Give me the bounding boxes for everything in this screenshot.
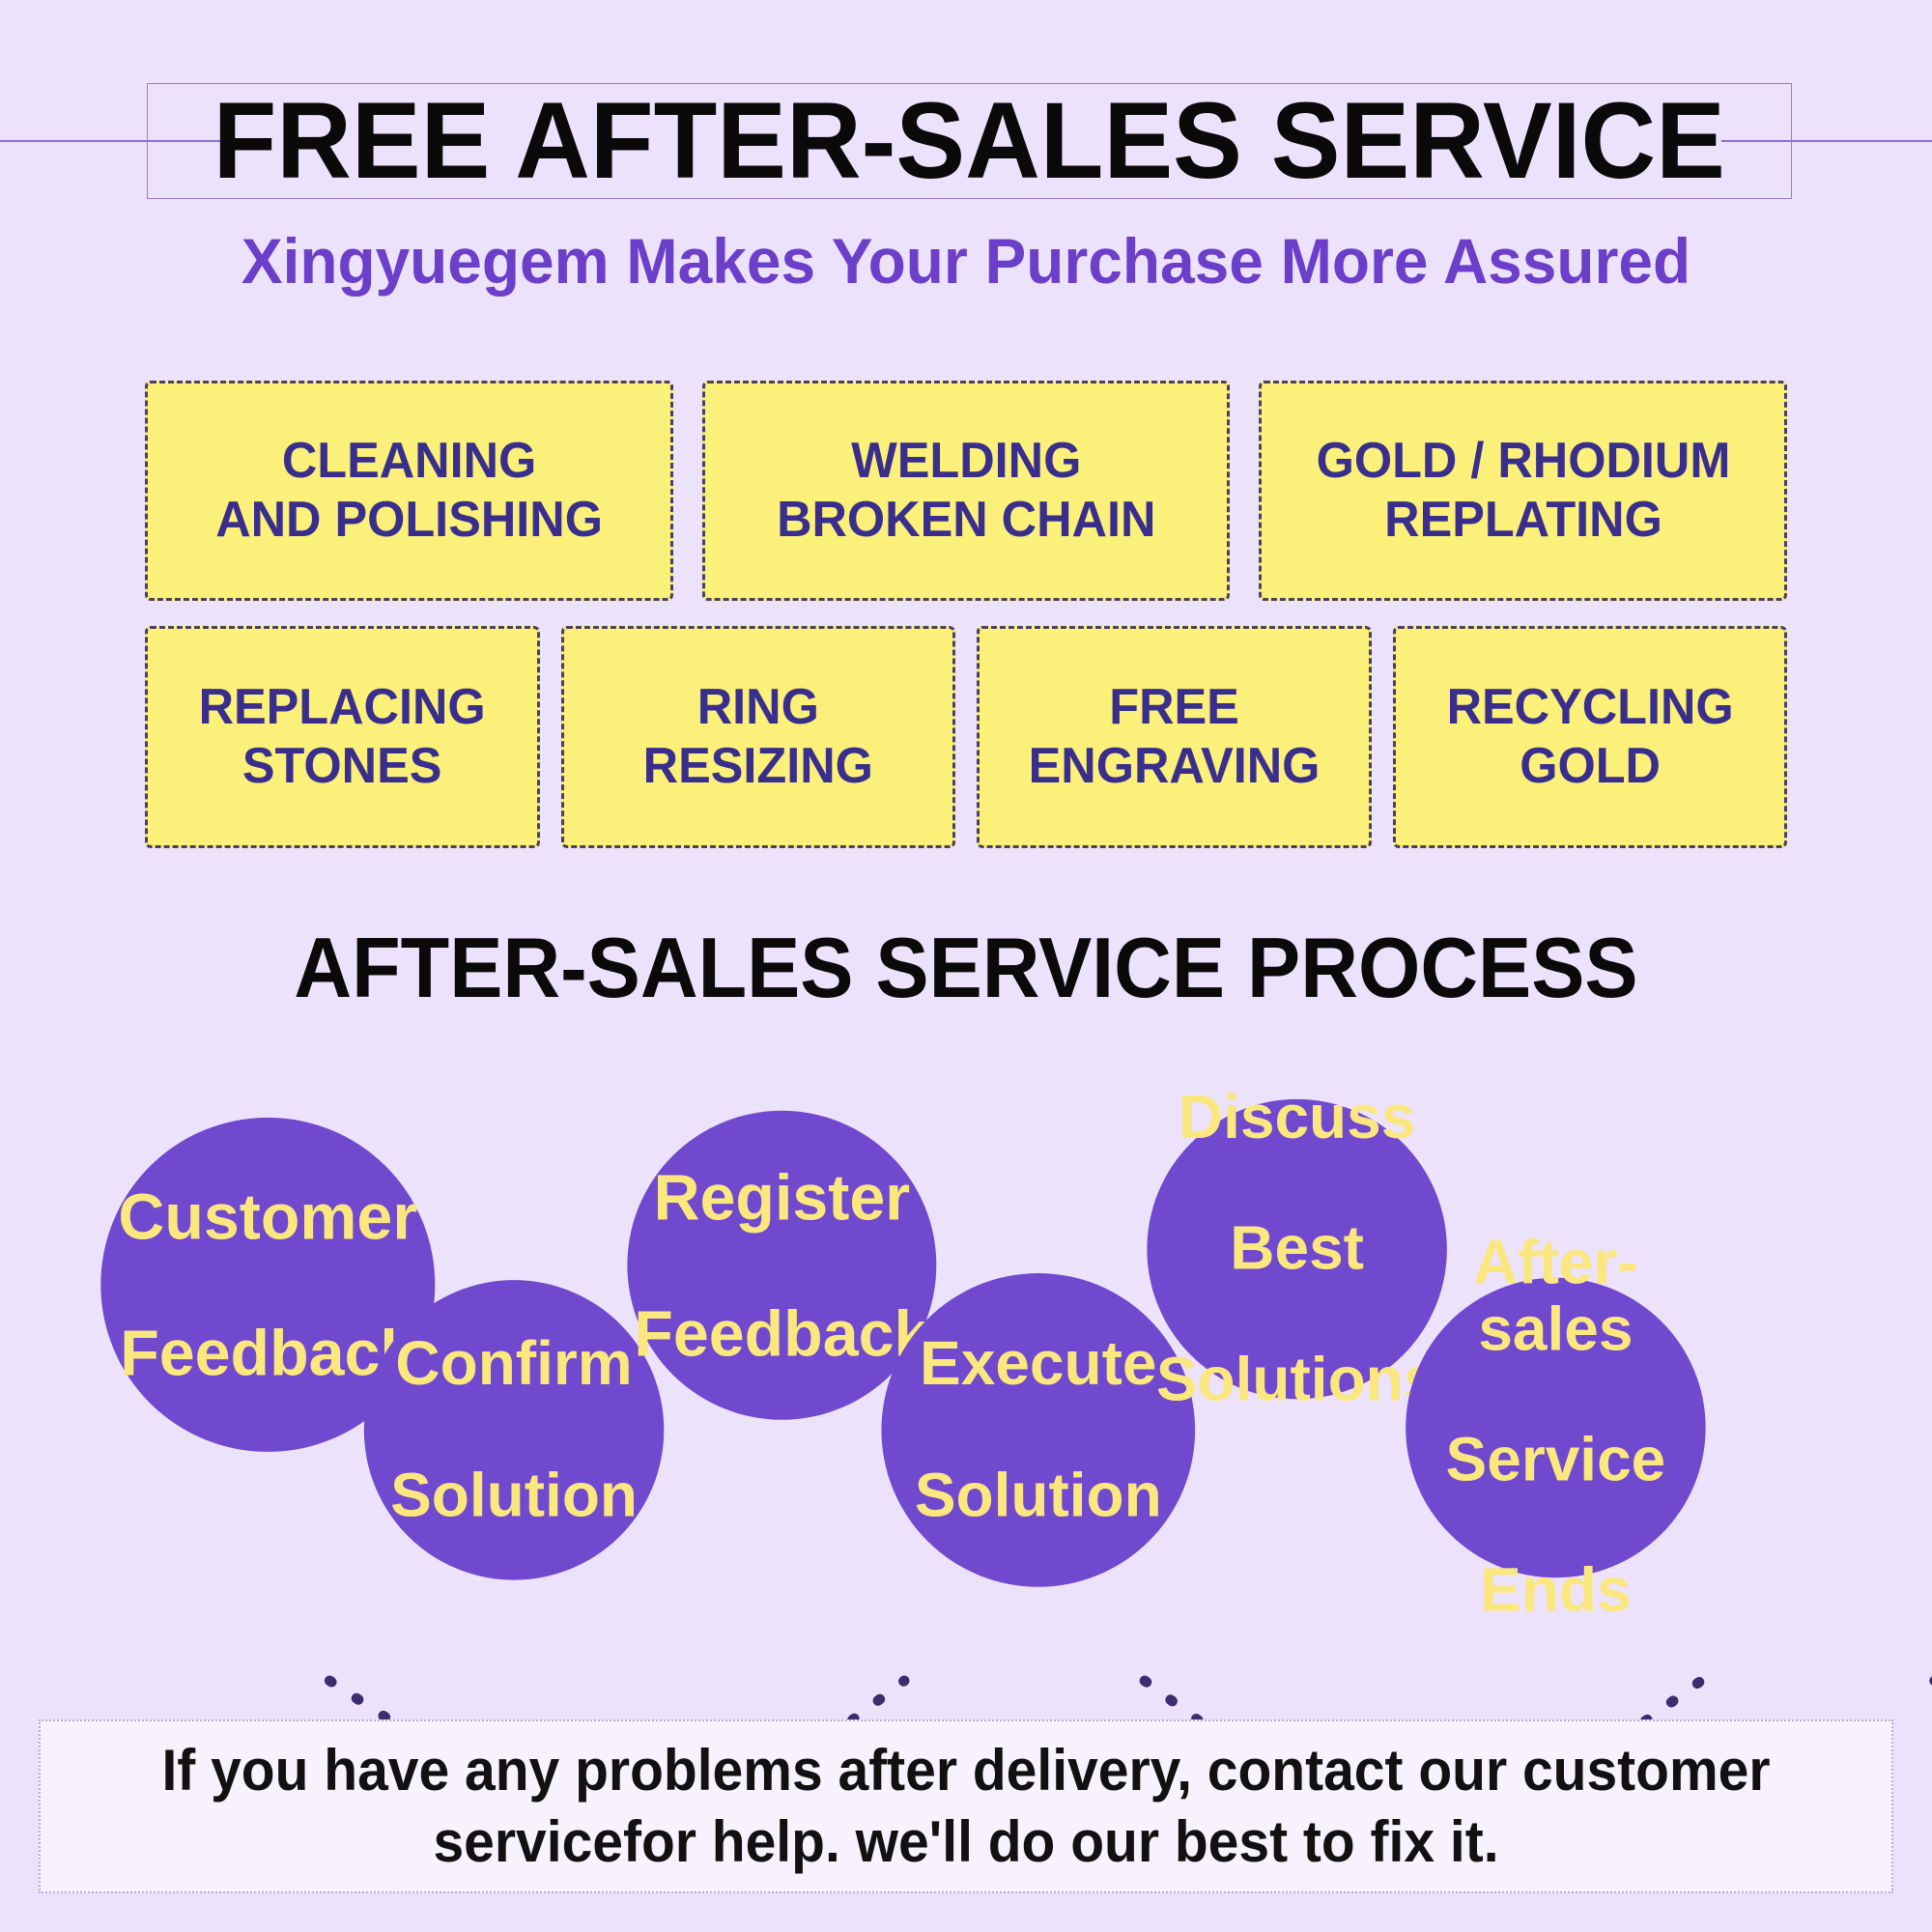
service-card-line2: GOLD bbox=[1446, 737, 1733, 796]
footer-note-text: If you have any problems after delivery,… bbox=[131, 1735, 1802, 1879]
service-card-line1: CLEANING bbox=[215, 432, 603, 491]
service-card-replacing-stones[interactable]: REPLACING STONES bbox=[145, 626, 540, 848]
process-step-line2: Feedback bbox=[627, 1299, 936, 1367]
process-step-discuss-best-solutions[interactable]: Discuss Best Solutions bbox=[1147, 1099, 1446, 1399]
process-step-line2: Solution bbox=[908, 1463, 1169, 1528]
service-card-cleaning[interactable]: CLEANING AND POLISHING bbox=[145, 381, 673, 601]
process-step-line1: Discuss bbox=[1150, 1086, 1445, 1151]
service-card-line2: BROKEN CHAIN bbox=[777, 491, 1155, 550]
service-card-ring-resizing[interactable]: RING RESIZING bbox=[561, 626, 956, 848]
service-card-line1: GOLD / RHODIUM bbox=[1316, 432, 1730, 491]
footer-line2: servicefor help. we'll do our best to fi… bbox=[131, 1806, 1802, 1878]
process-step-line3: Ends bbox=[1412, 1559, 1698, 1625]
service-card-free-engraving[interactable]: FREE ENGRAVING bbox=[977, 626, 1372, 848]
process-step-line1: After-sales bbox=[1412, 1232, 1698, 1363]
footer-line1: If you have any problems after delivery,… bbox=[131, 1735, 1802, 1806]
process-step-line1: Confirm bbox=[384, 1332, 644, 1398]
service-card-line1: RING bbox=[643, 678, 873, 737]
service-card-line2: ENGRAVING bbox=[1028, 737, 1320, 796]
service-card-line2: REPLATING bbox=[1316, 491, 1730, 550]
service-row-top: CLEANING AND POLISHING WELDING BROKEN CH… bbox=[145, 381, 1787, 601]
process-step-confirm-solution[interactable]: Confirm Solution bbox=[364, 1280, 664, 1579]
service-card-line1: WELDING bbox=[777, 432, 1155, 491]
process-step-register-feedback[interactable]: Register Feedback bbox=[627, 1111, 936, 1420]
process-step-line2: Service bbox=[1412, 1428, 1698, 1493]
title-frame: FREE AFTER-SALES SERVICE bbox=[147, 83, 1792, 199]
process-step-line3: Solutions bbox=[1150, 1348, 1445, 1413]
process-heading: AFTER-SALES SERVICE PROCESS bbox=[58, 925, 1874, 1010]
service-card-replating[interactable]: GOLD / RHODIUM REPLATING bbox=[1259, 381, 1787, 601]
service-card-line2: RESIZING bbox=[643, 737, 873, 796]
service-card-welding[interactable]: WELDING BROKEN CHAIN bbox=[702, 381, 1231, 601]
service-card-line1: RECYCLING bbox=[1446, 678, 1733, 737]
process-step-line1: Customer bbox=[111, 1182, 424, 1250]
process-step-line1: Execute bbox=[908, 1332, 1169, 1398]
process-flow: Customer Feedback Confirm Solution Regis… bbox=[0, 1063, 1932, 1818]
page-subtitle: Xingyuegem Makes Your Purchase More Assu… bbox=[29, 224, 1903, 298]
footer-note-box: If you have any problems after delivery,… bbox=[39, 1719, 1893, 1893]
header-band: FREE AFTER-SALES SERVICE bbox=[0, 39, 1932, 174]
service-row-bottom: REPLACING STONES RING RESIZING FREE ENGR… bbox=[145, 626, 1787, 848]
process-step-line2: Solution bbox=[384, 1463, 644, 1528]
service-card-recycling-gold[interactable]: RECYCLING GOLD bbox=[1393, 626, 1788, 848]
process-step-after-sales-service-ends[interactable]: After-sales Service Ends bbox=[1406, 1278, 1705, 1577]
service-card-line2: AND POLISHING bbox=[215, 491, 603, 550]
process-step-line2: Best bbox=[1150, 1216, 1445, 1282]
process-step-line1: Register bbox=[627, 1163, 936, 1231]
service-card-line1: REPLACING bbox=[199, 678, 486, 737]
service-card-line1: FREE bbox=[1028, 678, 1320, 737]
page-title: FREE AFTER-SALES SERVICE bbox=[213, 87, 1725, 195]
service-card-line2: STONES bbox=[199, 737, 486, 796]
